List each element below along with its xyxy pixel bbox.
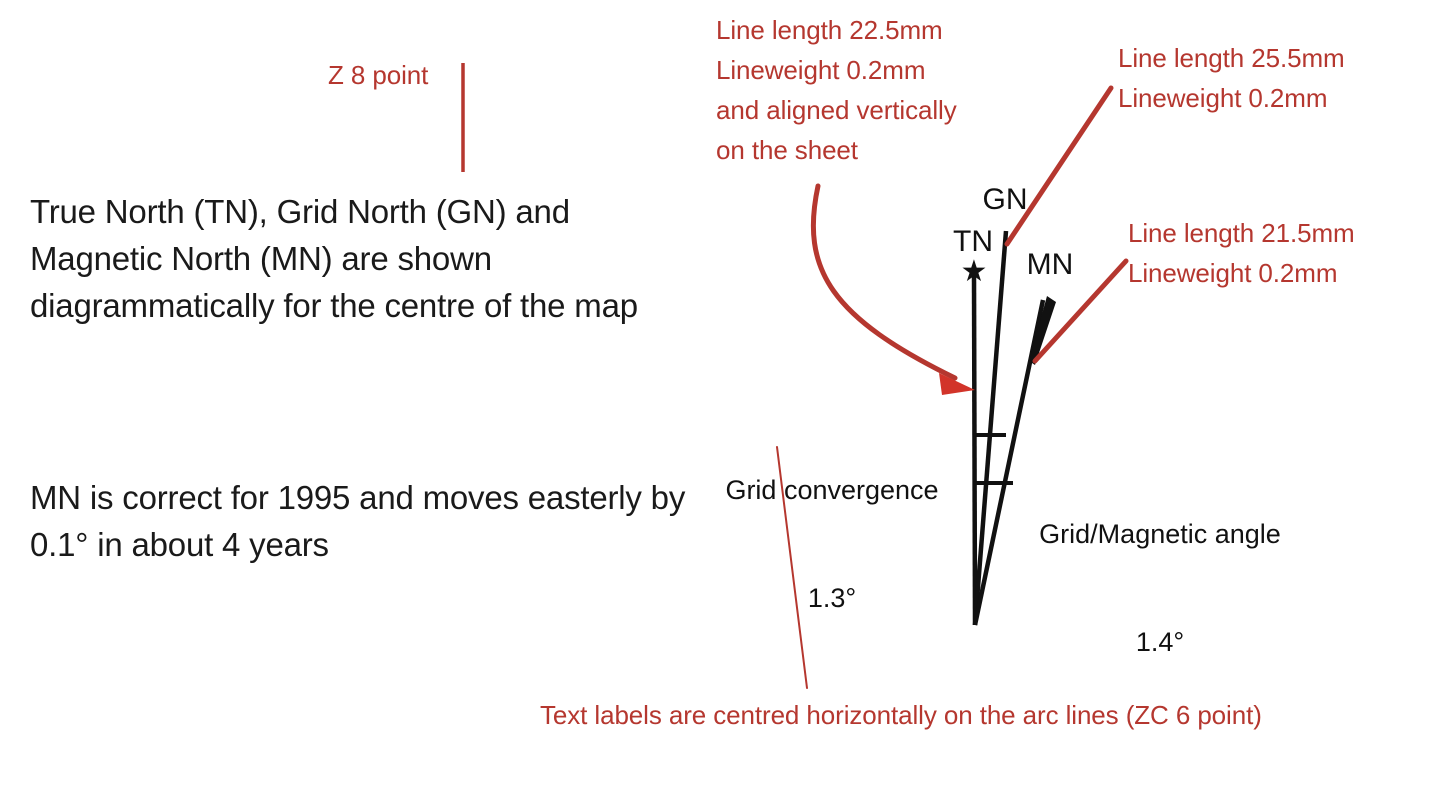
- arc-label-grid-convergence-title: Grid convergence: [692, 472, 972, 508]
- diagram-canvas: ★ True North (TN), Grid North (GN) and M…: [0, 0, 1434, 787]
- annotation-magnetic-north-spec: Line length 21.5mm Lineweight 0.2mm: [1128, 213, 1355, 293]
- body-paragraph-north-definitions: True North (TN), Grid North (GN) and Mag…: [30, 188, 670, 329]
- true-north-leader-arrowhead: [939, 373, 975, 395]
- true-north-curved-leader: [813, 186, 955, 378]
- arc-label-grid-magnetic-angle-value: 1.4°: [1010, 624, 1310, 660]
- annotation-grid-north-spec: Line length 25.5mm Lineweight 0.2mm: [1118, 38, 1345, 118]
- grid-north-line: [975, 231, 1006, 625]
- annotation-true-north-spec: Line length 22.5mm Lineweight 0.2mm and …: [716, 10, 957, 170]
- diagram-label-grid-north: GN: [955, 182, 1055, 218]
- body-paragraph-magnetic-variation: MN is correct for 1995 and moves easterl…: [30, 474, 690, 568]
- true-north-line: [974, 276, 975, 625]
- arc-label-grid-convergence-value: 1.3°: [692, 580, 972, 616]
- grid-north-leader: [1007, 88, 1111, 244]
- arc-label-grid-magnetic-angle: Grid/Magnetic angle 1.4°: [1010, 444, 1310, 732]
- diagram-label-magnetic-north: MN: [1000, 247, 1100, 283]
- arc-label-grid-convergence: Grid convergence 1.3°: [692, 400, 972, 688]
- annotation-z8-point: Z 8 point: [328, 55, 428, 95]
- arc-label-grid-magnetic-angle-title: Grid/Magnetic angle: [1010, 516, 1310, 552]
